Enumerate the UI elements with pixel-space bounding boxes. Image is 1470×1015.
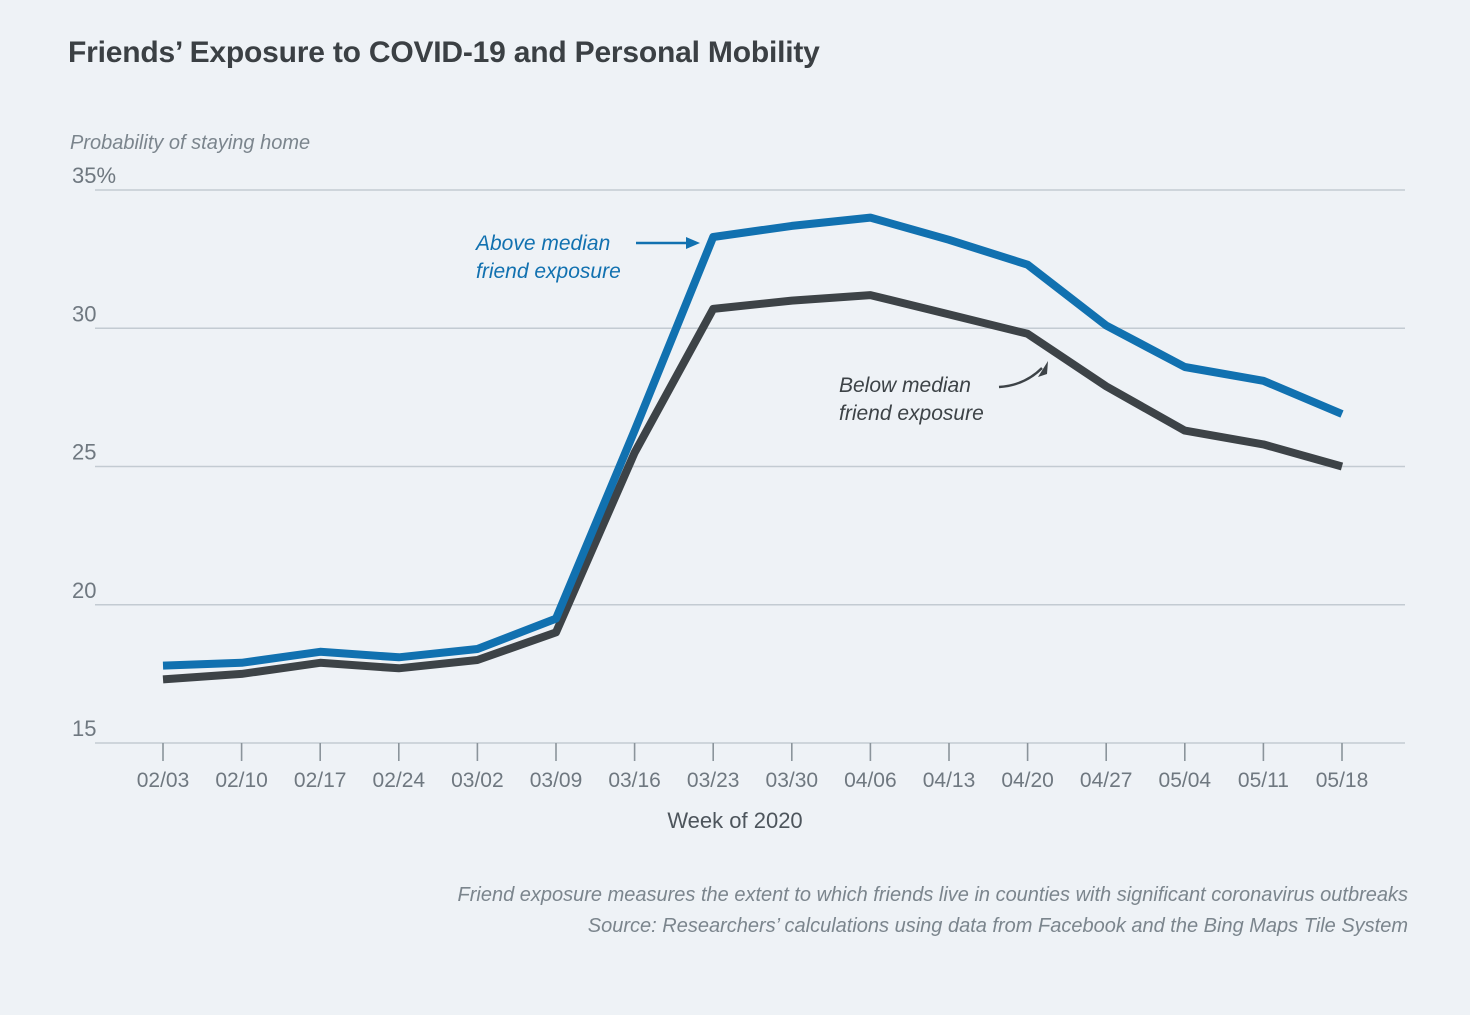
footnotes: Friend exposure measures the extent to w… — [458, 880, 1408, 942]
x-tick-marks-group — [163, 743, 1342, 761]
x-axis-title: Week of 2020 — [0, 808, 1470, 834]
annotation-below-median: Below median friend exposure — [839, 361, 1048, 425]
y-tick-label: 30 — [72, 301, 96, 326]
annotation-above-median: Above median friend exposure — [474, 232, 700, 283]
annotation-above-median-line2: friend exposure — [476, 260, 621, 283]
x-tick-label: 03/23 — [687, 769, 740, 792]
y-tick-label: 20 — [72, 578, 96, 603]
x-tick-label: 05/04 — [1159, 769, 1212, 792]
x-tick-label: 03/02 — [451, 769, 504, 792]
footnote-source: Source: Researchers’ calculations using … — [458, 911, 1408, 942]
x-tick-label: 04/27 — [1080, 769, 1133, 792]
y-tick-labels-group: 1520253035% — [72, 163, 116, 741]
x-tick-label: 05/11 — [1238, 769, 1289, 792]
chart-figure: Friends’ Exposure to COVID-19 and Person… — [0, 0, 1470, 1015]
y-tick-label: 15 — [72, 716, 96, 741]
x-tick-labels-group: 02/0302/1002/1702/2403/0203/0903/1603/23… — [137, 769, 1369, 792]
gridlines-group — [95, 190, 1405, 743]
x-tick-label: 04/20 — [1001, 769, 1054, 792]
x-tick-label: 02/17 — [294, 769, 347, 792]
x-tick-label: 03/09 — [530, 769, 583, 792]
data-series-group — [163, 218, 1342, 680]
x-tick-label: 02/24 — [373, 769, 426, 792]
x-tick-label: 05/18 — [1316, 769, 1369, 792]
x-tick-label: 03/16 — [608, 769, 661, 792]
annotation-above-median-line1: Above median — [474, 232, 610, 255]
x-tick-label: 04/06 — [844, 769, 897, 792]
footnote-definition: Friend exposure measures the extent to w… — [458, 880, 1408, 911]
annotation-above-median-arrow — [636, 237, 700, 249]
x-tick-label: 03/30 — [766, 769, 819, 792]
annotation-below-median-arrow — [999, 361, 1048, 387]
x-tick-label: 02/03 — [137, 769, 190, 792]
y-tick-label: 35% — [72, 163, 116, 188]
x-tick-label: 04/13 — [923, 769, 976, 792]
annotation-below-median-line2: friend exposure — [839, 402, 984, 425]
x-tick-label: 02/10 — [215, 769, 268, 792]
line-chart-plot: 1520253035% 02/0302/1002/1702/2403/0203/… — [0, 0, 1470, 1015]
series-line — [163, 218, 1342, 666]
y-tick-label: 25 — [72, 440, 96, 465]
annotation-below-median-line1: Below median — [839, 374, 971, 397]
